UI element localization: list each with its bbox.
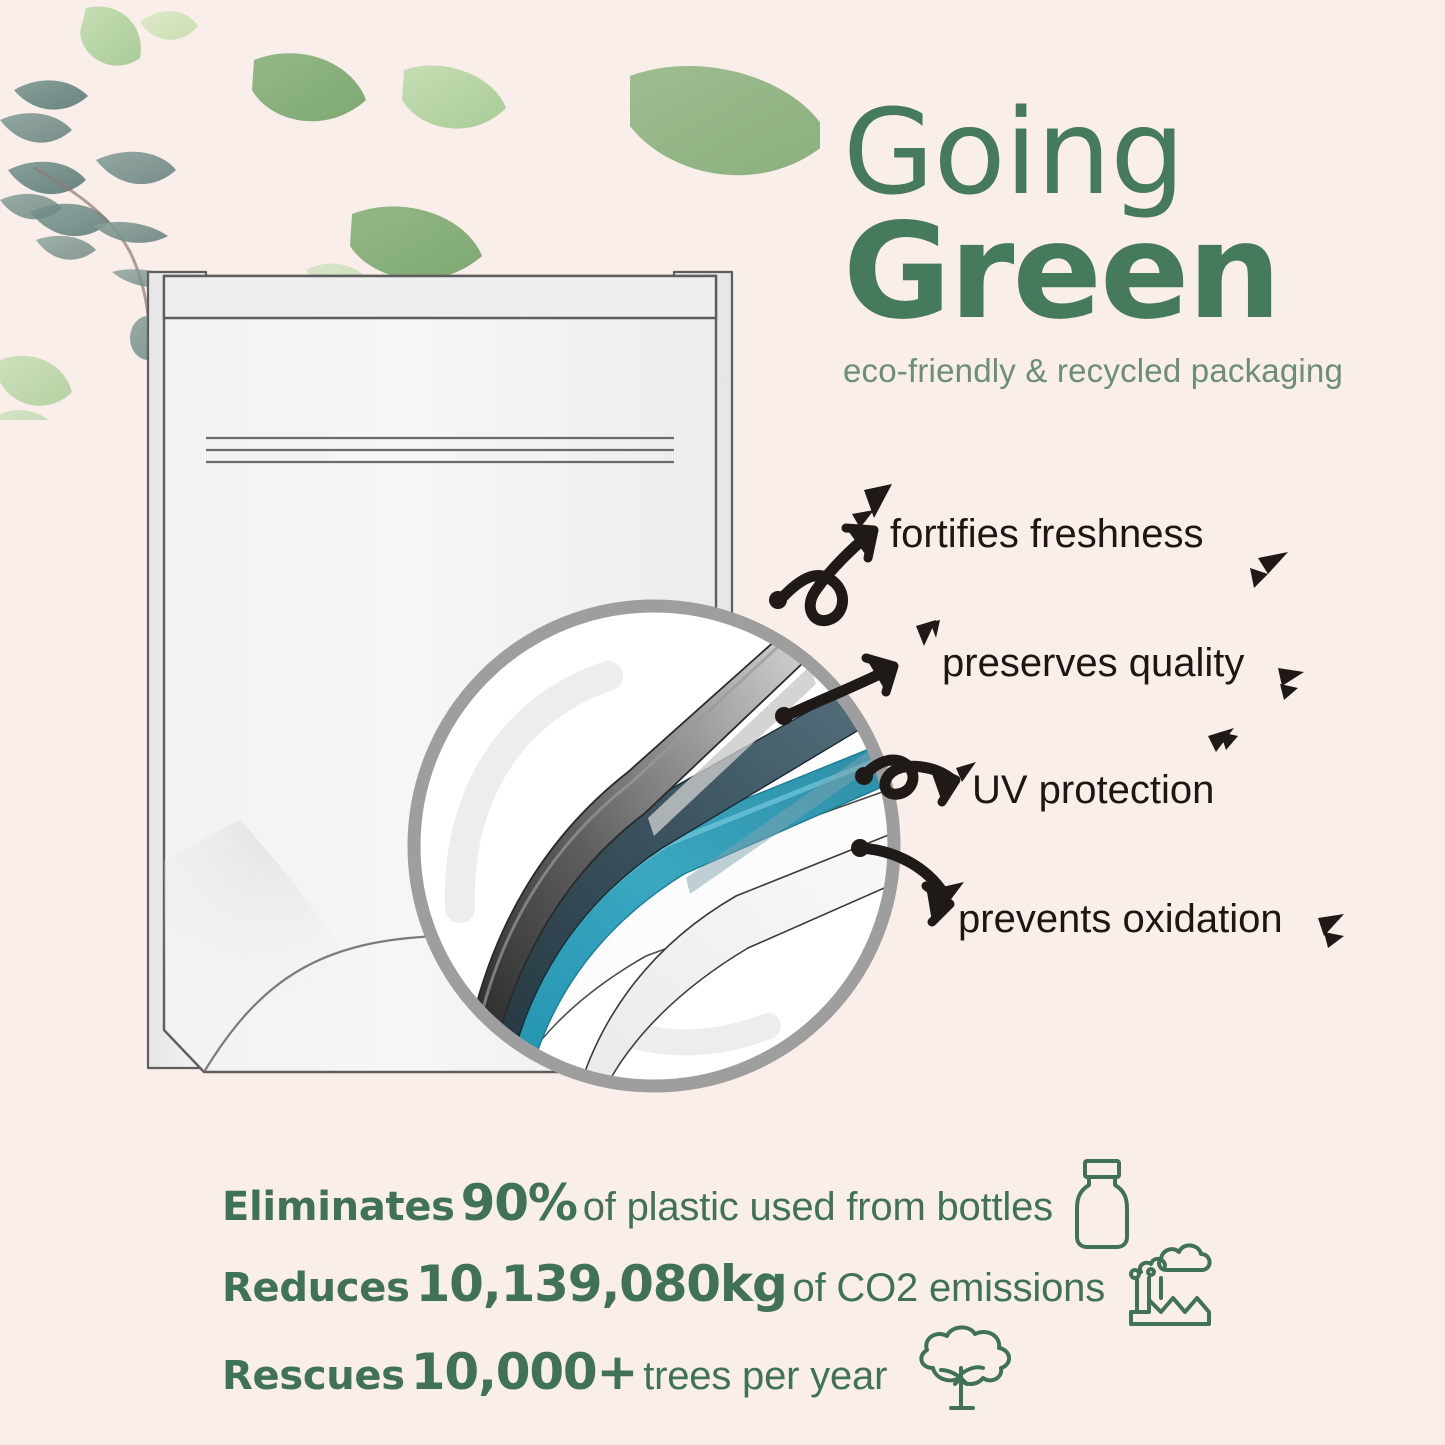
stat-lead: Eliminates xyxy=(222,1184,455,1230)
stat-lead: Rescues xyxy=(222,1353,405,1399)
stat-lead: Reduces xyxy=(222,1265,410,1311)
bottle-icon xyxy=(1069,1155,1135,1251)
stat-row-plastic: Eliminates 90% of plastic used from bott… xyxy=(222,1155,1135,1251)
stat-row-trees: Rescues 10,000+ trees per year xyxy=(222,1322,1021,1422)
feature-label-fortifies-freshness: fortifies freshness xyxy=(890,512,1203,557)
feature-label-preserves-quality: preserves quality xyxy=(942,641,1244,686)
stat-text: Eliminates 90% of plastic used from bott… xyxy=(222,1174,1053,1232)
page-title-line1: Going xyxy=(843,92,1403,212)
infographic-canvas: Going Green eco-friendly & recycled pack… xyxy=(0,0,1445,1445)
feature-label-prevents-oxidation: prevents oxidation xyxy=(958,897,1283,942)
feature-label-uv-protection: UV protection xyxy=(972,768,1214,813)
page-subtitle: eco-friendly & recycled packaging xyxy=(843,352,1403,390)
stat-value: 10,000+ xyxy=(411,1343,637,1401)
factory-icon xyxy=(1121,1238,1217,1330)
page-title-line2: Green xyxy=(843,206,1403,338)
stat-row-co2: Reduces 10,139,080kg of CO2 emissions xyxy=(222,1238,1217,1330)
stat-value: 10,139,080kg xyxy=(416,1255,787,1313)
stat-text: Reduces 10,139,080kg of CO2 emissions xyxy=(222,1255,1105,1313)
tree-icon xyxy=(903,1322,1021,1422)
stat-text: Rescues 10,000+ trees per year xyxy=(222,1343,887,1401)
stat-tail: of CO2 emissions xyxy=(793,1266,1105,1311)
headline-block: Going Green eco-friendly & recycled pack… xyxy=(843,92,1403,390)
stat-tail: trees per year xyxy=(643,1354,887,1399)
stat-value: 90% xyxy=(461,1174,577,1232)
stat-tail: of plastic used from bottles xyxy=(583,1185,1053,1230)
